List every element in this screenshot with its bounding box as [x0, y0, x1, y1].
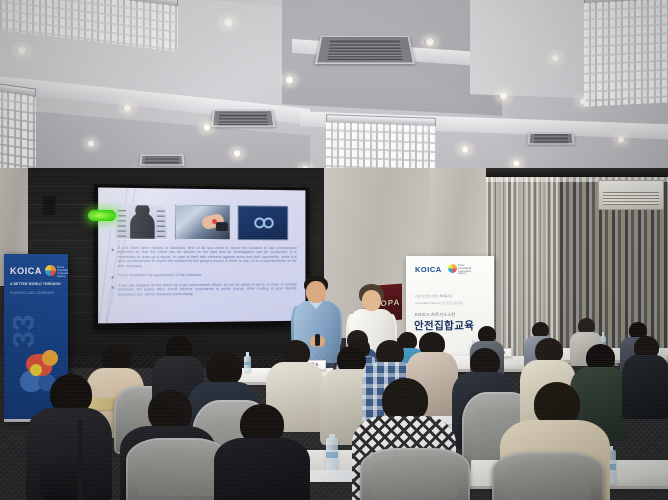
- koica-logo-mark-icon: [45, 265, 56, 276]
- bullet-dot: [112, 287, 114, 289]
- koica-logo-text: KOICA: [415, 265, 442, 274]
- recessed-downlight: [232, 150, 242, 157]
- attendee-body: [622, 355, 668, 419]
- crystal-chandelier: [0, 79, 36, 168]
- attendee-body: [214, 438, 310, 500]
- bullet-dot: [112, 276, 114, 278]
- recessed-downlight: [424, 38, 436, 46]
- banner-tagline-line2: SHARING AND LEARNING: [10, 291, 62, 295]
- ceiling-air-vent: [211, 110, 276, 127]
- recessed-downlight: [86, 140, 96, 147]
- ceiling-air-vent: [527, 133, 574, 145]
- koica-logo-mark-icon: [448, 264, 457, 273]
- recessed-downlight: [460, 146, 470, 153]
- id-card-photo: [115, 204, 168, 240]
- conference-room-ceiling: [0, 0, 668, 182]
- attendee: [622, 336, 668, 432]
- koica-logo-mark-caption: Korea International Cooperation Agency: [458, 265, 474, 276]
- recessed-downlight: [498, 92, 509, 100]
- banner-title: 안전집합교육: [414, 318, 474, 333]
- water-bottle: [326, 438, 338, 472]
- recessed-downlight: [616, 136, 626, 143]
- recessed-downlight: [550, 54, 561, 62]
- projection-screen: If you have been robbed or attacked, fir…: [94, 184, 309, 329]
- banner-small-line2: Consultation Mission 안전집합교육 안내: [415, 302, 483, 305]
- ceiling-air-vent: [315, 36, 415, 64]
- curtain-rod: [472, 168, 668, 177]
- wall-air-conditioner: [598, 180, 664, 210]
- banner-tagline-line1: A BETTER WORLD THROUGH: [10, 282, 62, 286]
- police-check-photo: [175, 205, 231, 240]
- presentation-slide: If you have been robbed or attacked, fir…: [98, 188, 305, 324]
- banner-graphic-blob: [42, 350, 58, 366]
- slide-bullet-list: If you have been robbed or attacked, fir…: [112, 246, 297, 317]
- slide-bullet: If you are stopped on the street by a la…: [112, 283, 297, 297]
- banquet-chair: [492, 452, 604, 500]
- handcuffs-icon: [238, 205, 289, 240]
- recessed-downlight: [284, 76, 295, 84]
- slide-bullet-text: Try to remember the appearance of the cr…: [118, 273, 203, 278]
- slide-bullet: If you have been robbed or attacked, fir…: [112, 246, 297, 268]
- koica-logo-text: KOICA: [10, 266, 42, 276]
- presenter-head: [306, 281, 326, 303]
- recessed-downlight: [16, 46, 28, 55]
- conference-room-photo: ROPA If you have been ro: [0, 0, 668, 500]
- recessed-downlight: [202, 124, 212, 131]
- laser-pointer-mark: [88, 210, 116, 221]
- koica-logo-mark-caption: Korea International Cooperation Agency: [57, 266, 66, 278]
- presenter-head: [362, 290, 381, 311]
- recessed-downlight: [222, 18, 235, 27]
- slide-image-row: [115, 204, 296, 240]
- recessed-downlight: [122, 104, 133, 112]
- recessed-downlight: [512, 160, 521, 167]
- slide-bullet: Try to remember the appearance of the cr…: [112, 273, 297, 279]
- bullet-dot: [112, 249, 114, 251]
- wall-speaker: [43, 196, 55, 214]
- banquet-chair: [360, 448, 470, 500]
- crystal-chandelier: [584, 0, 668, 99]
- attendee: [214, 404, 310, 500]
- banner-ghost-glyph: 33: [8, 314, 42, 347]
- banner-small-line1: 키르기스스탄 사무소 해외봉사단: [415, 295, 483, 298]
- ceiling-air-vent: [139, 155, 184, 166]
- trolley-handle: [78, 420, 83, 500]
- attendee-head: [206, 352, 242, 386]
- slide-bullet-text: If you are stopped on the street by a la…: [118, 283, 297, 297]
- slide-bullet-text: If you have been robbed or attacked, fir…: [118, 246, 297, 268]
